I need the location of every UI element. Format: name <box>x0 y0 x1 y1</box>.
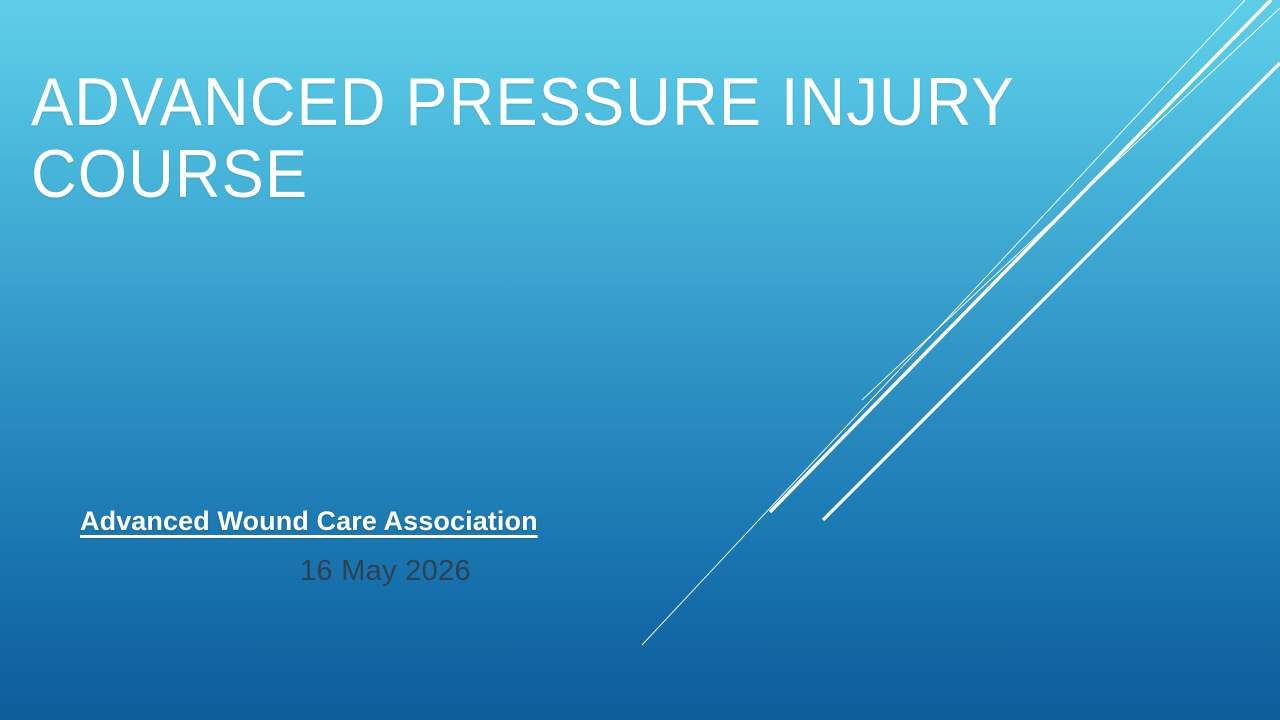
presentation-date: 16 May 2026 <box>300 553 471 589</box>
page-title-line-1: Advanced Pressure Injury <box>31 66 896 138</box>
page-title-line-2: Course <box>31 138 896 210</box>
organization-name: Advanced Wound Care Association <box>80 504 538 538</box>
page-title: Advanced Pressure Injury Course <box>31 66 961 210</box>
title-slide: Advanced Pressure Injury Course Advanced… <box>0 0 1280 720</box>
